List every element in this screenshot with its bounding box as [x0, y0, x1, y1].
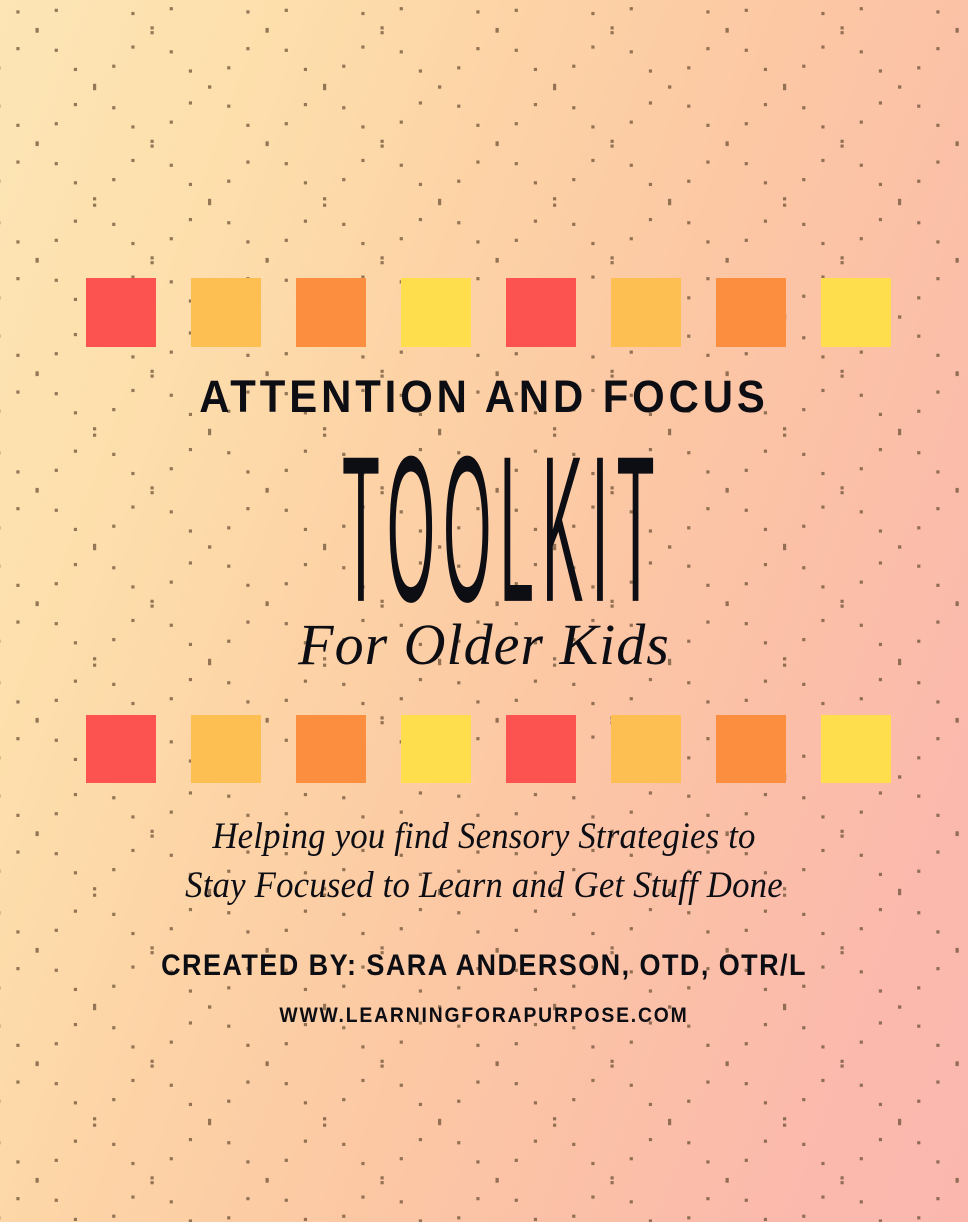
cover-author-credit: CREATED BY: SARA ANDERSON, OTD, OTR/L: [48, 949, 919, 983]
color-square: [296, 278, 366, 347]
color-square: [86, 278, 156, 347]
color-square: [821, 278, 891, 347]
color-square: [401, 278, 471, 347]
color-square: [506, 278, 576, 347]
top-square-row: [86, 278, 891, 347]
color-square: [611, 278, 681, 347]
color-square: [716, 715, 786, 783]
cover-tagline: Helping you find Sensory Strategies to S…: [29, 813, 939, 911]
cover-display-title: TOOLKIT: [334, 449, 634, 611]
cover-subtitle: For Older Kids: [0, 613, 968, 677]
color-square: [296, 715, 366, 783]
color-square: [821, 715, 891, 783]
color-square: [611, 715, 681, 783]
cover-tagline-line-1: Helping you find Sensory Strategies to: [29, 813, 939, 862]
color-square: [401, 715, 471, 783]
color-square: [191, 715, 261, 783]
cover-website-url: WWW.LEARNINGFORAPURPOSE.COM: [39, 1004, 930, 1028]
color-square: [191, 278, 261, 347]
color-square: [86, 715, 156, 783]
document-cover-page: ATTENTION AND FOCUS TOOLKIT For Older Ki…: [0, 0, 968, 1222]
color-square: [506, 715, 576, 783]
cover-tagline-line-2: Stay Focused to Learn and Get Stuff Done: [29, 862, 939, 911]
color-square: [716, 278, 786, 347]
bottom-square-row: [86, 715, 891, 783]
